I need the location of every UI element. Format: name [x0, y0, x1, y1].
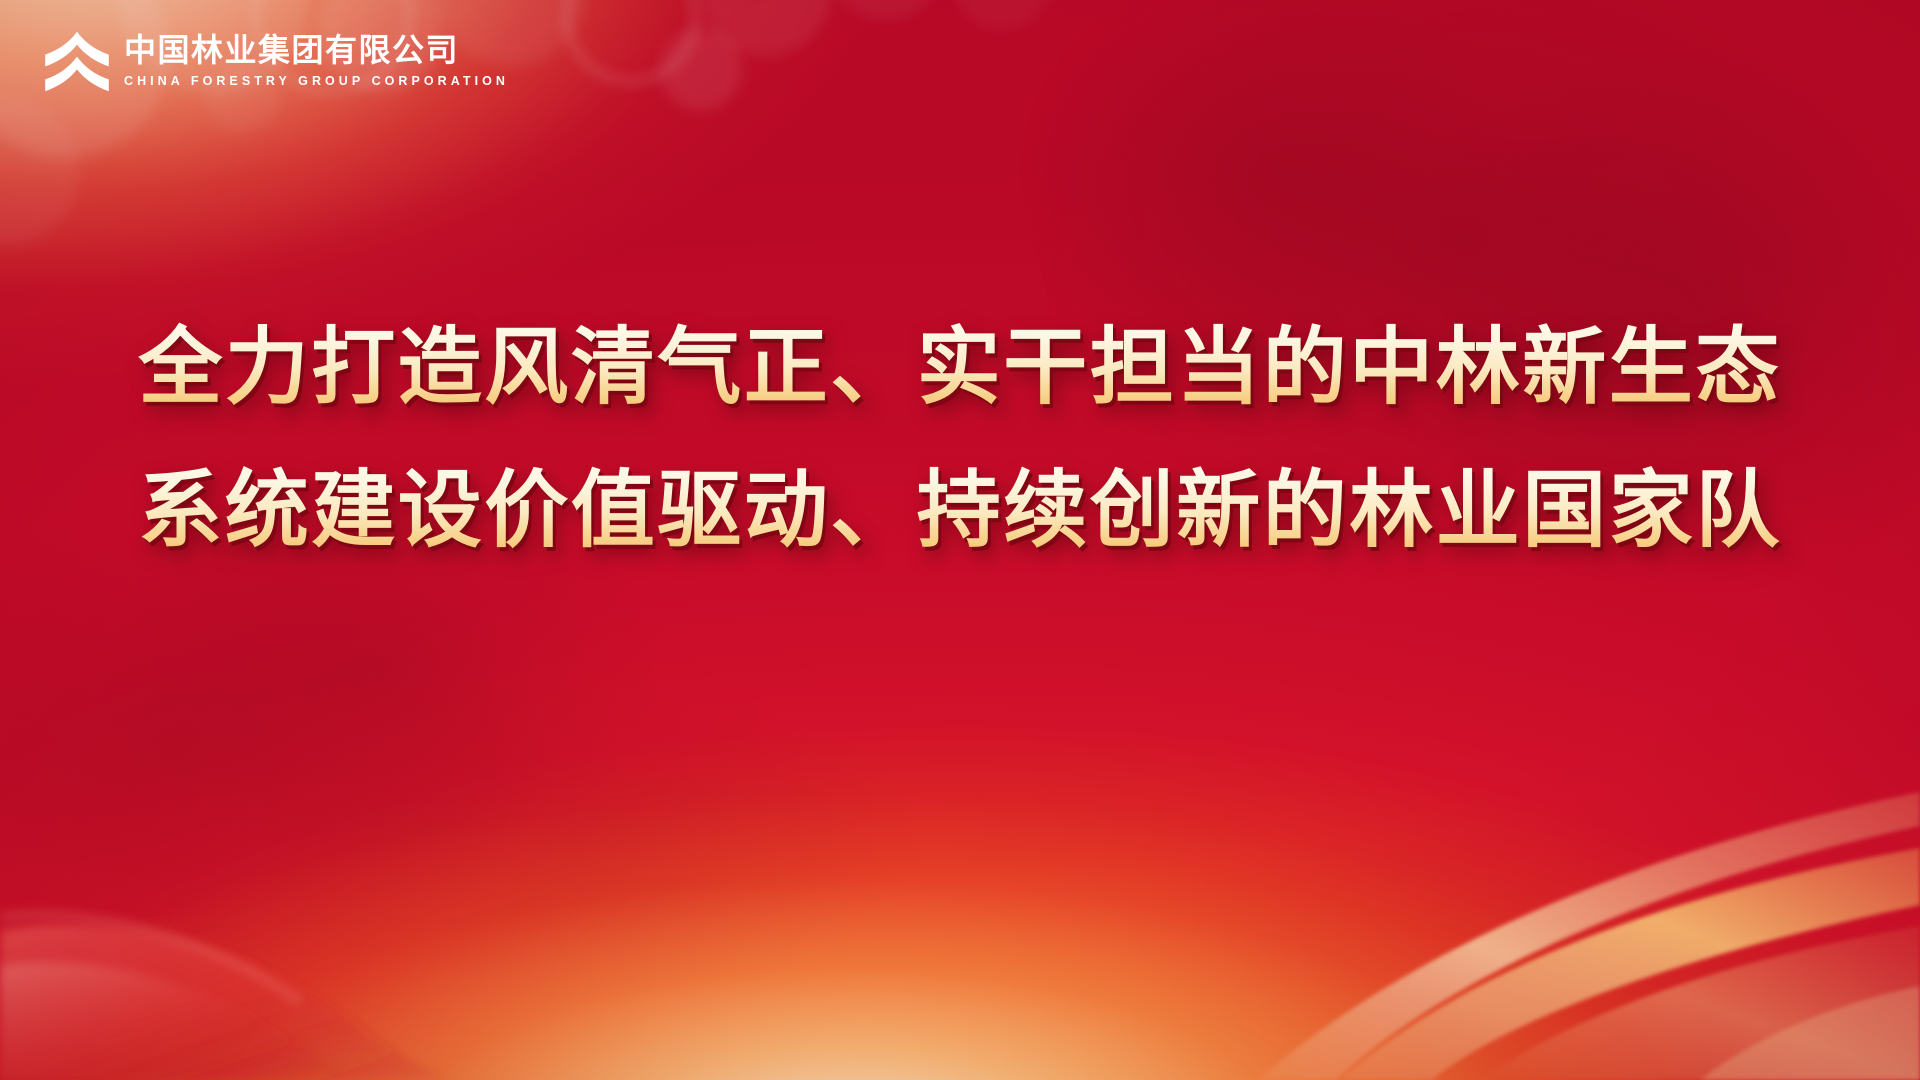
gold-ribbon-secondary — [1258, 792, 1920, 1080]
bokeh-ring — [560, 0, 702, 88]
banner-canvas: 中国林业集团有限公司 CHINA FORESTRY GROUP CORPORAT… — [0, 0, 1920, 1080]
red-silk-edge-highlight — [0, 915, 300, 1002]
slogan-line-1: 全力打造风清气正、实干担当的中林新生态 — [0, 296, 1920, 439]
china-forestry-group-chevron-mark — [44, 30, 110, 92]
bokeh-circle — [700, 0, 832, 56]
bokeh-circle — [828, 0, 944, 20]
gold-ribbon-highlight — [1700, 986, 1920, 1080]
logo-name-en: CHINA FORESTRY GROUP CORPORATION — [124, 75, 509, 88]
slogan-headline: 全力打造风清气正、实干担当的中林新生态 系统建设价值驱动、持续创新的林业国家队 — [0, 296, 1920, 582]
logo-name-cn: 中国林业集团有限公司 — [124, 34, 509, 68]
bokeh-circle — [0, 96, 80, 246]
red-silk-wave-inner — [0, 962, 352, 1080]
bokeh-circle — [952, 0, 1052, 30]
logo-wordmark: 中国林业集团有限公司 CHINA FORESTRY GROUP CORPORAT… — [124, 34, 509, 87]
company-logo: 中国林业集团有限公司 CHINA FORESTRY GROUP CORPORAT… — [44, 30, 509, 92]
bokeh-circle — [660, 28, 742, 110]
red-silk-wave — [0, 924, 452, 1080]
gold-ribbon-tertiary — [1482, 926, 1920, 1080]
gold-ribbon-primary — [1340, 848, 1920, 1080]
slogan-line-2: 系统建设价值驱动、持续创新的林业国家队 — [0, 439, 1920, 582]
